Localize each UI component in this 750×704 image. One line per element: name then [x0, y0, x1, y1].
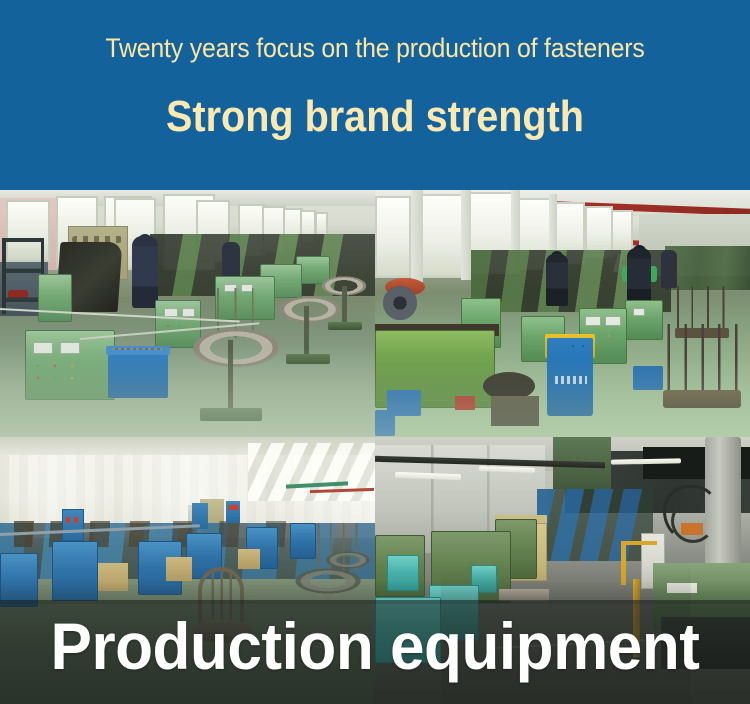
gauge-panel: [633, 308, 645, 316]
coil-stand-post: [342, 286, 347, 326]
wall-column: [461, 190, 471, 280]
distant-machines: [665, 246, 750, 290]
grinding-wheel: [383, 286, 417, 320]
worker: [132, 236, 158, 308]
worker: [546, 254, 568, 306]
caption-title: Production equipment: [23, 608, 728, 684]
tan-crate: [238, 549, 260, 569]
floor-sheen: [0, 347, 375, 437]
promo-banner: Twenty years focus on the production of …: [0, 0, 750, 704]
control-box: [62, 509, 84, 541]
gauge-panel: [585, 316, 601, 326]
factory-floor-photo: [0, 190, 375, 437]
window: [375, 196, 411, 278]
teal-machine: [387, 555, 419, 591]
photo-top-right: [375, 190, 750, 437]
window: [611, 210, 633, 254]
gauge-panel: [605, 316, 621, 326]
coiled-hose: [671, 499, 715, 543]
floor-sheen: [375, 357, 750, 437]
banner-header: Twenty years focus on the production of …: [0, 0, 750, 190]
control-buttons: [229, 505, 238, 510]
tan-crate: [166, 557, 192, 581]
worker: [222, 242, 240, 278]
worker: [661, 250, 677, 288]
gauge-panel: [164, 308, 178, 317]
photo-top-left: [0, 190, 375, 437]
orange-box: [681, 523, 703, 535]
green-machine: [38, 274, 72, 322]
headline-title: Strong brand strength: [38, 92, 713, 142]
window: [421, 194, 463, 278]
factory-hall-photo: [375, 190, 750, 437]
headline-tagline: Twenty years focus on the production of …: [30, 33, 720, 64]
coil-stand-base: [328, 322, 362, 330]
green-machine: [625, 300, 663, 340]
control-switches: [550, 340, 590, 352]
wall-column: [411, 190, 423, 282]
gauge-panel: [182, 308, 195, 317]
control-buttons: [66, 517, 80, 523]
